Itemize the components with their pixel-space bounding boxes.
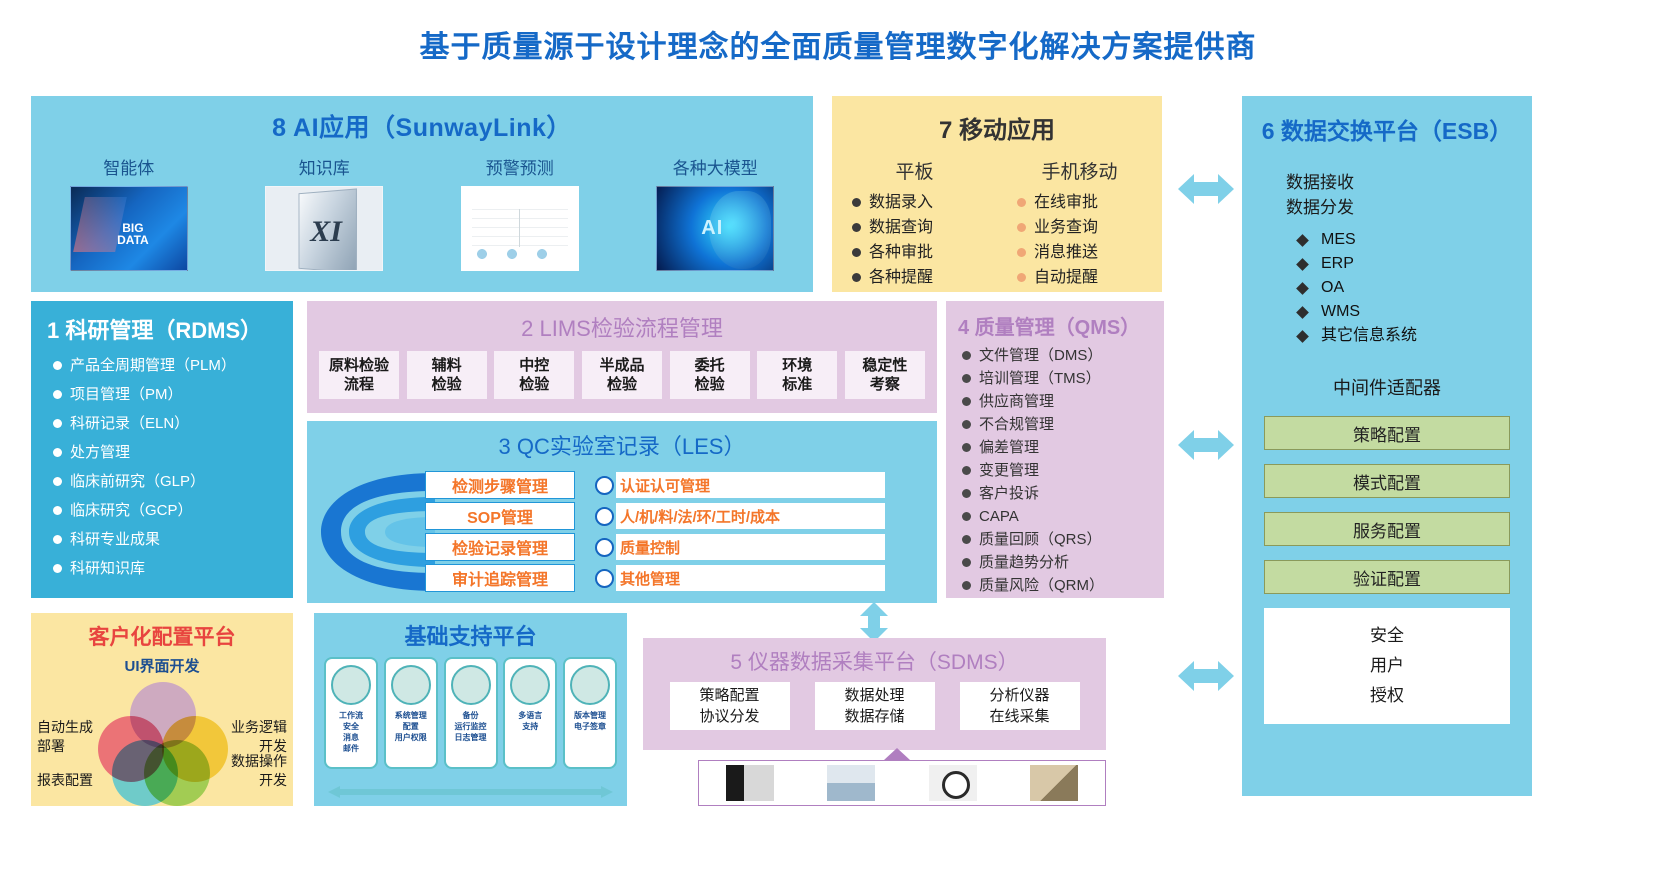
sdms-box-line1: 策略配置 xyxy=(699,685,759,706)
lims-box-line2: 标准 xyxy=(782,375,812,394)
arrow-les-to-sdms-icon xyxy=(854,602,894,642)
list-item-label: 培训管理（TMS） xyxy=(979,367,1101,390)
esb-subtitle-line2: 数据分发 xyxy=(1286,195,1532,220)
ai-item-forecast[interactable]: 预警预测 xyxy=(435,154,605,271)
list-item[interactable]: 自动提醒 xyxy=(997,265,1162,290)
arrow-mobile-to-esb-icon xyxy=(1178,168,1234,210)
bullet-icon xyxy=(962,535,971,544)
list-item[interactable]: 其它信息系统 xyxy=(1298,324,1532,348)
list-item-label: 临床前研究（GLP） xyxy=(70,467,205,496)
lims-box-in-process[interactable]: 中控检验 xyxy=(494,351,574,399)
base-column-labels: 备份 运行监控 日志管理 xyxy=(455,710,487,743)
authorization-item-label: 授权 xyxy=(1370,681,1404,711)
lims-box-line1: 委托 xyxy=(695,356,725,375)
list-item-label: 科研记录（ELN） xyxy=(70,409,189,438)
base-label: 邮件 xyxy=(339,743,363,754)
list-item-label: 不合规管理 xyxy=(979,413,1054,436)
base-bidirectional-arrow-icon xyxy=(328,786,613,798)
circle-icon xyxy=(451,665,491,705)
bullet-icon xyxy=(53,361,62,370)
list-item[interactable]: 处方管理 xyxy=(31,438,293,467)
ai-item-label: 各种大模型 xyxy=(630,154,800,179)
ai-item-label: 预警预测 xyxy=(435,154,605,179)
list-item[interactable]: 数据录入 xyxy=(832,190,997,215)
list-item-label: 质量趋势分析 xyxy=(979,551,1069,574)
ui-development-label: UI界面开发 xyxy=(31,655,293,676)
list-item-label: 变更管理 xyxy=(979,459,1039,482)
instrument-photo-strip xyxy=(698,760,1106,806)
lims-box-line1: 稳定性 xyxy=(862,356,907,375)
instrument-data-acquisition-panel: 5 仪器数据采集平台（SDMS） 策略配置 协议分发 数据处理 数据存储 分析仪… xyxy=(643,638,1106,750)
auto-deploy-label: 自动生成 部署 xyxy=(37,718,93,756)
custom-panel-title: 客户化配置平台 xyxy=(31,613,293,651)
data-operation-label: 数据操作 开发 xyxy=(231,752,287,790)
lims-box-line2: 检验 xyxy=(432,375,462,394)
lims-box-raw-material[interactable]: 原料检验流程 xyxy=(319,351,399,399)
circle-icon xyxy=(331,665,371,705)
list-item[interactable]: 培训管理（TMS） xyxy=(946,367,1164,390)
research-management-panel: 1 科研管理（RDMS） 产品全周期管理（PLM） 项目管理（PM） 科研记录（… xyxy=(31,301,293,598)
base-column-workflow[interactable]: 工作流 安全 消息 邮件 xyxy=(324,657,378,769)
bullet-icon xyxy=(53,448,62,457)
base-column-labels: 多语言 支持 xyxy=(518,710,542,732)
bullet-icon xyxy=(962,397,971,406)
mode-config-button[interactable]: 模式配置 xyxy=(1264,464,1510,498)
list-item[interactable]: CAPA xyxy=(946,505,1164,528)
list-item[interactable]: 认证认可管理 xyxy=(595,471,885,499)
les-right-label: 其他管理 xyxy=(616,565,885,591)
les-left-column: 检测步骤管理 SOP管理 检验记录管理 审计追踪管理 xyxy=(425,471,575,595)
sdms-data-processing-box[interactable]: 数据处理 数据存储 xyxy=(815,682,935,730)
user-item-label: 用户 xyxy=(1370,651,1404,681)
list-item[interactable]: 科研专业成果 xyxy=(31,525,293,554)
lims-box-excipient[interactable]: 辅料检验 xyxy=(407,351,487,399)
bullet-icon xyxy=(852,248,861,257)
bullet-icon xyxy=(962,466,971,475)
data-operation-line1: 数据操作 xyxy=(231,752,287,771)
list-item-label: 产品全周期管理（PLM） xyxy=(70,351,236,380)
circle-bullet-icon xyxy=(595,569,614,588)
base-column-labels: 版本管理 电子签章 xyxy=(574,710,606,732)
list-item[interactable]: 业务查询 xyxy=(997,215,1162,240)
bullet-icon xyxy=(962,420,971,429)
base-column-labels: 系统管理 配置 用户权限 xyxy=(395,710,427,743)
list-item-label: 业务查询 xyxy=(1034,215,1098,240)
lims-box-line1: 环境 xyxy=(782,356,812,375)
esb-subtitle: 数据接收 数据分发 xyxy=(1286,170,1532,220)
list-item[interactable]: 产品全周期管理（PLM） xyxy=(31,351,293,380)
list-item[interactable]: 各种审批 xyxy=(832,240,997,265)
list-item[interactable]: 数据查询 xyxy=(832,215,997,240)
list-item[interactable]: 不合规管理 xyxy=(946,413,1164,436)
sdms-box-line1: 数据处理 xyxy=(844,685,904,706)
base-column-multilingual[interactable]: 多语言 支持 xyxy=(503,657,557,769)
bullet-icon xyxy=(53,419,62,428)
instrument-photo-1-icon xyxy=(726,765,774,801)
base-label: 安全 xyxy=(339,721,363,732)
list-item-label: 各种提醒 xyxy=(869,265,933,290)
base-label: 支持 xyxy=(518,721,542,732)
lims-box-line2: 检验 xyxy=(607,375,637,394)
mobile-column-heading: 平板 xyxy=(832,157,997,184)
circle-icon xyxy=(510,665,550,705)
list-item-label: 文件管理（DMS） xyxy=(979,344,1102,367)
list-item[interactable]: 临床研究（GCP） xyxy=(31,496,293,525)
bullet-icon xyxy=(962,512,971,521)
lims-box-line2: 检验 xyxy=(695,375,725,394)
list-item[interactable]: 质量控制 xyxy=(595,533,885,561)
list-item-label: 数据录入 xyxy=(869,190,933,215)
base-label: 消息 xyxy=(339,732,363,743)
instrument-photo-2-icon xyxy=(827,765,875,801)
bullet-icon xyxy=(962,374,971,383)
qc-lab-record-panel: 3 QC实验室记录（LES） 检测步骤管理 SOP管理 检验记录管理 审计追踪管… xyxy=(307,421,937,603)
les-step-management-box[interactable]: 检测步骤管理 xyxy=(425,471,575,499)
base-label: 版本管理 xyxy=(574,710,606,721)
base-label: 多语言 xyxy=(518,710,542,721)
list-item[interactable]: 科研知识库 xyxy=(31,554,293,583)
list-item[interactable]: 其他管理 xyxy=(595,564,885,592)
diamond-bullet-icon xyxy=(1296,258,1309,271)
ai-item-large-models[interactable]: 各种大模型 xyxy=(630,154,800,271)
base-label: 配置 xyxy=(395,721,427,732)
list-item[interactable]: 各种提醒 xyxy=(832,265,997,290)
bullet-icon xyxy=(53,477,62,486)
customization-platform-panel: 客户化配置平台 UI界面开发 自动生成 部署 业务逻辑 开发 报表配置 数据操作… xyxy=(31,613,293,806)
ai-application-panel: 8 AI应用（SunwayLink） 智能体 知识库 预警预测 各种大模型 xyxy=(31,96,813,292)
les-audit-trail-box[interactable]: 审计追踪管理 xyxy=(425,564,575,592)
ai-item-label: 知识库 xyxy=(239,154,409,179)
bullet-icon xyxy=(852,273,861,282)
diamond-bullet-icon xyxy=(1296,330,1309,343)
ai-item-label: 智能体 xyxy=(44,154,214,179)
list-item-label: 临床研究（GCP） xyxy=(70,496,193,525)
list-item-label: 客户投诉 xyxy=(979,482,1039,505)
bullet-icon xyxy=(53,535,62,544)
list-item[interactable]: 供应商管理 xyxy=(946,390,1164,413)
ai-item-agent[interactable]: 智能体 xyxy=(44,154,214,271)
bigdata-thumbnail-icon xyxy=(70,186,188,271)
report-config-label: 报表配置 xyxy=(37,771,93,790)
list-item-label: 各种审批 xyxy=(869,240,933,265)
bullet-icon xyxy=(962,351,971,360)
business-logic-label: 业务逻辑 开发 xyxy=(231,718,287,756)
ai-panel-title: 8 AI应用（SunwayLink） xyxy=(31,96,813,144)
base-label: 系统管理 xyxy=(395,710,427,721)
list-item[interactable]: 质量趋势分析 xyxy=(946,551,1164,574)
base-support-platform-panel: 基础支持平台 工作流 安全 消息 邮件 系统管理 配置 用户权限 备份 运行监控 xyxy=(314,613,627,806)
lims-box-stability[interactable]: 稳定性考察 xyxy=(845,351,925,399)
list-item[interactable]: 文件管理（DMS） xyxy=(946,344,1164,367)
lims-box-line2: 流程 xyxy=(344,375,374,394)
sdms-panel-title: 5 仪器数据采集平台（SDMS） xyxy=(643,638,1106,676)
lims-process-panel: 2 LIMS检验流程管理 原料检验流程 辅料检验 中控检验 半成品检验 委托检验… xyxy=(307,301,937,413)
circle-bullet-icon xyxy=(595,507,614,526)
les-sop-management-box[interactable]: SOP管理 xyxy=(425,502,575,530)
list-item-label: CAPA xyxy=(979,505,1019,528)
list-item-label: 数据查询 xyxy=(869,215,933,240)
les-panel-title: 3 QC实验室记录（LES） xyxy=(307,421,937,461)
auto-deploy-line2: 部署 xyxy=(37,737,93,756)
bullet-icon xyxy=(962,558,971,567)
les-right-label: 认证认可管理 xyxy=(616,472,885,498)
base-label: 电子签章 xyxy=(574,721,606,732)
lims-box-line1: 原料检验 xyxy=(329,356,389,375)
arrow-sdms-to-esb-icon xyxy=(1178,655,1234,697)
policy-config-button[interactable]: 策略配置 xyxy=(1264,416,1510,450)
circle-icon xyxy=(570,665,610,705)
lims-box-semi-finished[interactable]: 半成品检验 xyxy=(582,351,662,399)
esb-config-button-group: 策略配置 模式配置 服务配置 验证配置 xyxy=(1264,416,1510,594)
sdms-policy-config-box[interactable]: 策略配置 协议分发 xyxy=(670,682,790,730)
crystal-reports-thumbnail-icon xyxy=(265,186,383,271)
sdms-box-line2: 协议分发 xyxy=(699,706,759,727)
list-item-label: WMS xyxy=(1321,300,1360,324)
bullet-icon xyxy=(1017,248,1026,257)
les-right-column: 认证认可管理 人/机/料/法/环/工时/成本 质量控制 其他管理 xyxy=(595,471,885,595)
bullet-icon xyxy=(1017,223,1026,232)
list-item[interactable]: 项目管理（PM） xyxy=(31,380,293,409)
bullet-icon xyxy=(962,581,971,590)
les-record-management-box[interactable]: 检验记录管理 xyxy=(425,533,575,561)
lims-box-line1: 半成品 xyxy=(599,356,644,375)
list-item[interactable]: 人/机/料/法/环/工时/成本 xyxy=(595,502,885,530)
list-item[interactable]: 质量风险（QRM） xyxy=(946,574,1164,597)
list-item-label: OA xyxy=(1321,276,1344,300)
esb-panel-title: 6 数据交换平台（ESB） xyxy=(1242,96,1532,146)
ai-brain-thumbnail-icon xyxy=(656,186,774,271)
list-item-label: 供应商管理 xyxy=(979,390,1054,413)
mobile-panel-title: 7 移动应用 xyxy=(832,96,1162,145)
quality-management-panel: 4 质量管理（QMS） 文件管理（DMS） 培训管理（TMS） 供应商管理 不合… xyxy=(946,301,1164,598)
list-item[interactable]: OA xyxy=(1298,276,1532,300)
base-label: 日志管理 xyxy=(455,732,487,743)
instrument-photo-4-icon xyxy=(1030,765,1078,801)
list-item[interactable]: 消息推送 xyxy=(997,240,1162,265)
middleware-adapter-label: 中间件适配器 xyxy=(1242,374,1532,400)
list-item-label: 质量回顾（QRS） xyxy=(979,528,1102,551)
lims-box-line1: 辅料 xyxy=(432,356,462,375)
list-item[interactable]: 临床前研究（GLP） xyxy=(31,467,293,496)
base-label: 备份 xyxy=(455,710,487,721)
list-item[interactable]: 客户投诉 xyxy=(946,482,1164,505)
bullet-icon xyxy=(53,390,62,399)
base-column-backup[interactable]: 备份 运行监控 日志管理 xyxy=(444,657,498,769)
list-item-label: 其它信息系统 xyxy=(1321,324,1417,348)
page-title: 基于质量源于设计理念的全面质量管理数字化解决方案提供商 xyxy=(0,22,1676,66)
list-item-label: 自动提醒 xyxy=(1034,265,1098,290)
list-item-label: 在线审批 xyxy=(1034,190,1098,215)
sdms-instrument-collection-box[interactable]: 分析仪器 在线采集 xyxy=(960,682,1080,730)
bullet-icon xyxy=(53,564,62,573)
data-operation-line2: 开发 xyxy=(231,771,287,790)
list-item[interactable]: 质量回顾（QRS） xyxy=(946,528,1164,551)
diamond-bullet-icon xyxy=(1296,234,1309,247)
list-item-label: 项目管理（PM） xyxy=(70,380,183,409)
arrow-qms-to-esb-icon xyxy=(1178,424,1234,466)
qms-panel-title: 4 质量管理（QMS） xyxy=(946,301,1164,344)
esb-subtitle-line1: 数据接收 xyxy=(1286,170,1532,195)
ai-item-list: 智能体 知识库 预警预测 各种大模型 xyxy=(31,154,813,271)
base-column-labels: 工作流 安全 消息 邮件 xyxy=(339,710,363,754)
les-right-label: 人/机/料/法/环/工时/成本 xyxy=(616,503,885,529)
lims-panel-title: 2 LIMS检验流程管理 xyxy=(307,301,937,343)
bullet-icon xyxy=(962,489,971,498)
data-exchange-platform-panel: 6 数据交换平台（ESB） 数据接收 数据分发 MES ERP OA WMS 其… xyxy=(1242,96,1532,796)
venn-circle-cyan xyxy=(112,740,178,806)
diamond-bullet-icon xyxy=(1296,306,1309,319)
bullet-icon xyxy=(852,198,861,207)
bullet-icon xyxy=(852,223,861,232)
business-logic-line1: 业务逻辑 xyxy=(231,718,287,737)
mobile-column-heading: 手机移动 xyxy=(997,157,1162,184)
ai-item-knowledge-base[interactable]: 知识库 xyxy=(239,154,409,271)
list-item[interactable]: 偏差管理 xyxy=(946,436,1164,459)
base-panel-title: 基础支持平台 xyxy=(314,613,627,651)
auto-deploy-line1: 自动生成 xyxy=(37,718,93,737)
circle-bullet-icon xyxy=(595,476,614,495)
mobile-column-tablet: 平板 数据录入 数据查询 各种审批 各种提醒 xyxy=(832,157,997,290)
lims-box-line2: 考察 xyxy=(870,375,900,394)
base-column-version[interactable]: 版本管理 电子签章 xyxy=(563,657,617,769)
validation-config-button[interactable]: 验证配置 xyxy=(1264,560,1510,594)
base-label: 运行监控 xyxy=(455,721,487,732)
list-item[interactable]: 科研记录（ELN） xyxy=(31,409,293,438)
gauge-photo-3-icon xyxy=(929,765,977,801)
security-box: 安全 用户 授权 xyxy=(1264,608,1510,724)
sdms-box-line1: 分析仪器 xyxy=(989,685,1049,706)
sdms-box-line2: 在线采集 xyxy=(989,706,1049,727)
list-item-label: 偏差管理 xyxy=(979,436,1039,459)
les-right-label: 质量控制 xyxy=(616,534,885,560)
base-column-system-admin[interactable]: 系统管理 配置 用户权限 xyxy=(384,657,438,769)
security-item-label: 安全 xyxy=(1370,621,1404,651)
base-label: 工作流 xyxy=(339,710,363,721)
mobile-application-panel: 7 移动应用 平板 数据录入 数据查询 各种审批 各种提醒 手机移动 在线审批 … xyxy=(832,96,1162,292)
list-item[interactable]: 变更管理 xyxy=(946,459,1164,482)
sdms-box-line2: 数据存储 xyxy=(844,706,904,727)
bullet-icon xyxy=(1017,273,1026,282)
bullet-icon xyxy=(1017,198,1026,207)
list-item-label: MES xyxy=(1321,228,1356,252)
bullet-icon xyxy=(53,506,62,515)
esb-system-list: MES ERP OA WMS 其它信息系统 xyxy=(1298,228,1532,348)
circle-icon xyxy=(391,665,431,705)
base-label: 用户权限 xyxy=(395,732,427,743)
venn-diagram-graphic xyxy=(92,682,232,794)
list-item[interactable]: MES xyxy=(1298,228,1532,252)
list-item-label: 处方管理 xyxy=(70,438,130,467)
list-item[interactable]: 在线审批 xyxy=(997,190,1162,215)
rdms-panel-title: 1 科研管理（RDMS） xyxy=(31,301,293,351)
circle-bullet-icon xyxy=(595,538,614,557)
list-item-label: 消息推送 xyxy=(1034,240,1098,265)
mobile-column-phone: 手机移动 在线审批 业务查询 消息推送 自动提醒 xyxy=(997,157,1162,290)
list-item[interactable]: WMS xyxy=(1298,300,1532,324)
service-config-button[interactable]: 服务配置 xyxy=(1264,512,1510,546)
lims-box-line2: 检验 xyxy=(519,375,549,394)
bullet-icon xyxy=(962,443,971,452)
list-item[interactable]: ERP xyxy=(1298,252,1532,276)
dashboard-thumbnail-icon xyxy=(461,186,579,271)
diamond-bullet-icon xyxy=(1296,282,1309,295)
lims-box-line1: 中控 xyxy=(519,356,549,375)
list-item-label: 质量风险（QRM） xyxy=(979,574,1104,597)
list-item-label: ERP xyxy=(1321,252,1354,276)
list-item-label: 科研专业成果 xyxy=(70,525,160,554)
lims-box-entrusted[interactable]: 委托检验 xyxy=(670,351,750,399)
list-item-label: 科研知识库 xyxy=(70,554,145,583)
lims-box-environment[interactable]: 环境标准 xyxy=(757,351,837,399)
